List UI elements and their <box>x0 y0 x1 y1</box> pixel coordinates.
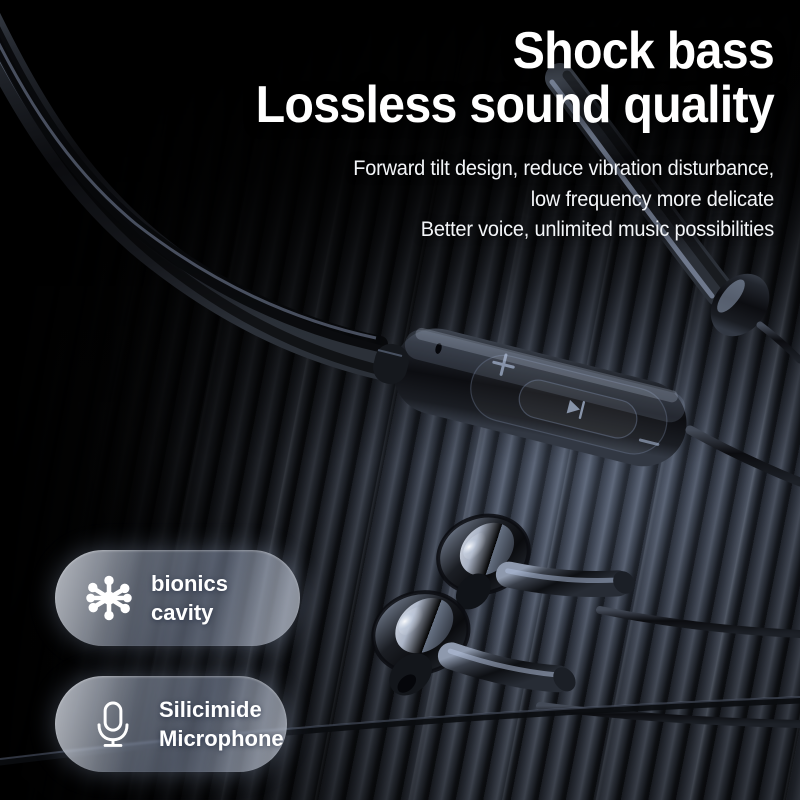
earbud-upper-cable <box>600 610 800 634</box>
feature-badge-bionics-label: bionics cavity <box>151 569 228 627</box>
feature-label-line-1: Silicimide <box>159 695 284 724</box>
product-banner: Shock bass Lossless sound quality Forwar… <box>0 0 800 800</box>
feature-label-line-2: cavity <box>151 598 228 627</box>
subtitle-line-2: low frequency more delicate <box>242 185 774 215</box>
headline-line-2: Lossless sound quality <box>253 78 774 132</box>
feature-label-line-1: bionics <box>151 569 228 598</box>
feature-badge-silicimide-microphone: Silicimide Microphone <box>55 676 287 772</box>
headline-line-1: Shock bass <box>253 24 774 78</box>
control-pod <box>384 319 696 475</box>
feature-label-line-2: Microphone <box>159 724 284 753</box>
microphone-icon <box>85 696 141 752</box>
subtitle-line-3: Better voice, unlimited music possibilit… <box>242 215 774 245</box>
subtitle-block: Forward tilt design, reduce vibration di… <box>214 154 774 245</box>
pod-cable-right <box>690 430 800 482</box>
subtitle-line-1: Forward tilt design, reduce vibration di… <box>242 154 774 184</box>
marketing-copy: Shock bass Lossless sound quality Forwar… <box>214 24 774 245</box>
feature-badge-microphone-label: Silicimide Microphone <box>159 695 284 753</box>
molecule-bionics-icon <box>81 570 137 626</box>
feature-badge-bionics-cavity: bionics cavity <box>55 550 300 646</box>
